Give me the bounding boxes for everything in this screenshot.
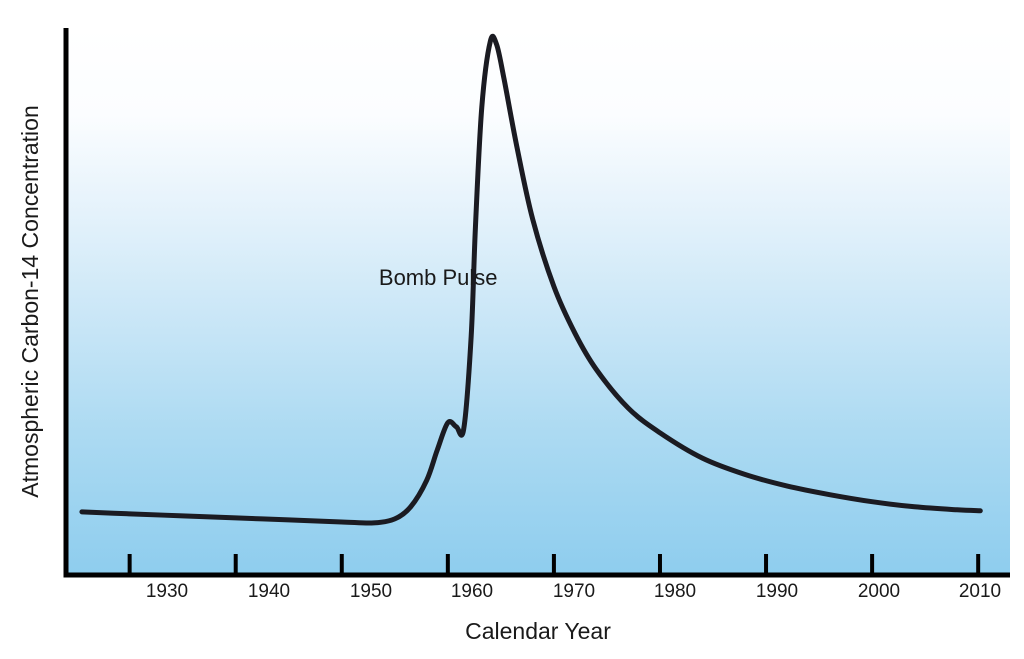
x-tick-label-1930: 1930 [146,581,188,602]
y-axis-title: Atmospheric Carbon-14 Concentration [17,105,43,497]
x-tick-label-1940: 1940 [248,581,290,602]
x-tick-label-2000: 2000 [858,581,900,602]
x-axis-tick-labels: 1930 1940 1950 1960 1970 1980 1990 2000 … [146,581,1001,602]
plot-background [66,28,1010,575]
x-axis-title: Calendar Year [465,618,611,644]
x-tick-label-2010: 2010 [959,581,1001,602]
x-tick-label-1980: 1980 [654,581,696,602]
chart-canvas: 1930 1940 1950 1960 1970 1980 1990 2000 … [0,0,1024,659]
x-tick-label-1970: 1970 [553,581,595,602]
bomb-pulse-annotation: Bomb Pulse [379,265,498,290]
x-tick-label-1990: 1990 [756,581,798,602]
carbon-14-bomb-pulse-figure: 1930 1940 1950 1960 1970 1980 1990 2000 … [0,0,1024,659]
x-tick-label-1960: 1960 [451,581,493,602]
x-tick-label-1950: 1950 [350,581,392,602]
